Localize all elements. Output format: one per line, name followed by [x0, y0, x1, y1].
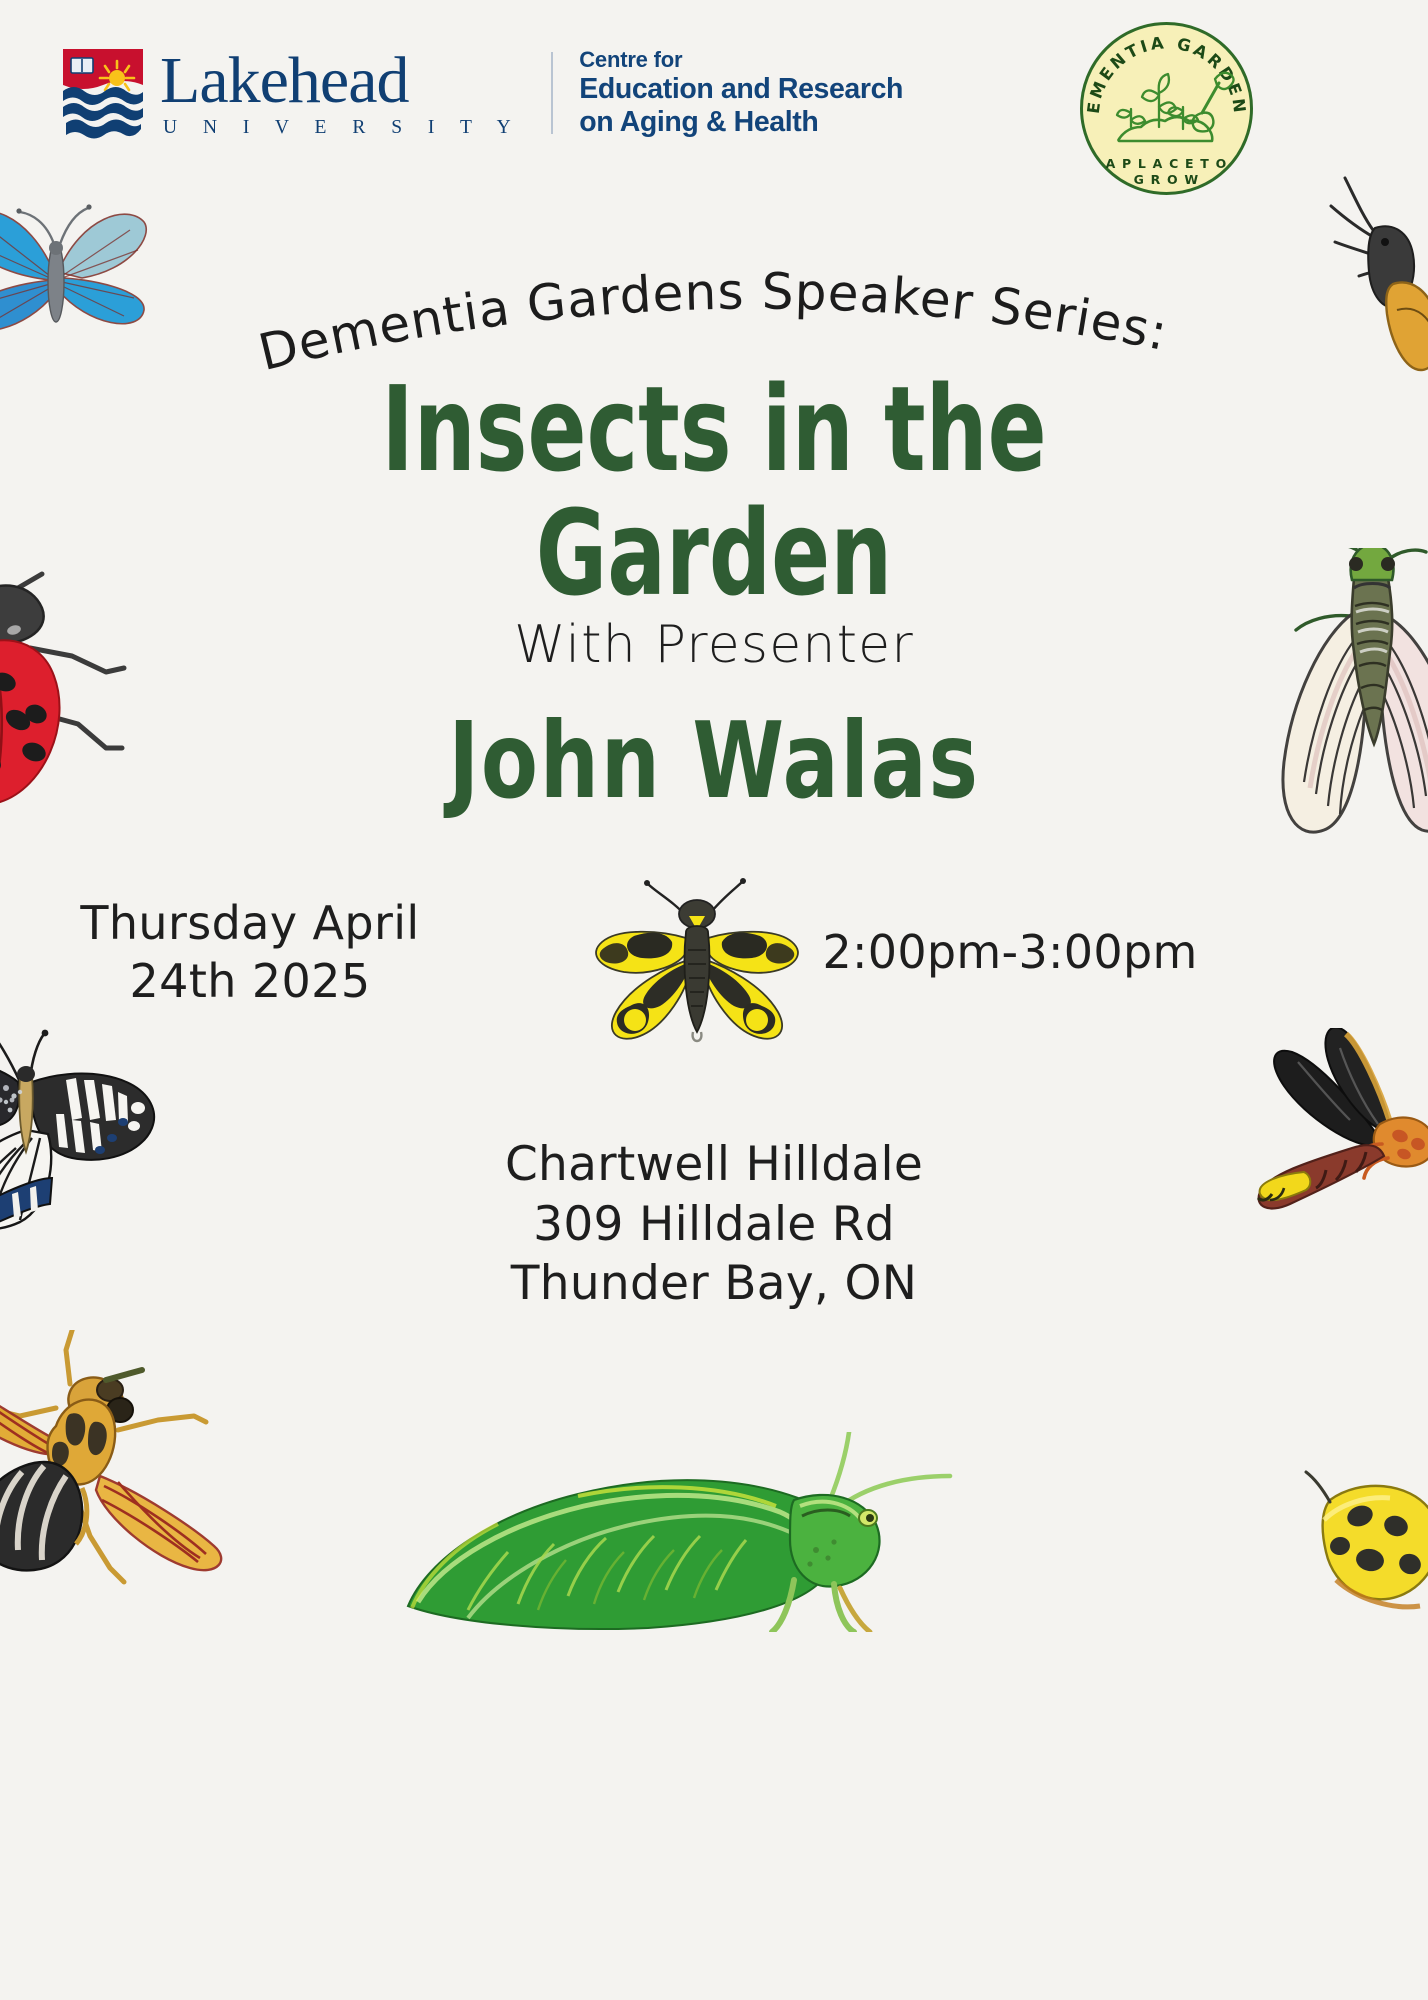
location-venue: Chartwell Hilldale — [0, 1135, 1428, 1195]
centre-line-3: on Aging & Health — [579, 106, 903, 139]
dragonfly-illustration — [1254, 1028, 1428, 1218]
lakehead-university-logo: Lakehead U N I V E R S I T Y Centre for … — [60, 45, 903, 141]
event-date-line-2: 24th 2025 — [40, 953, 460, 1011]
poster-canvas: Lakehead U N I V E R S I T Y Centre for … — [0, 0, 1428, 2000]
event-location: Chartwell Hilldale 309 Hilldale Rd Thund… — [0, 1135, 1428, 1314]
poster-header: Lakehead U N I V E R S I T Y Centre for … — [0, 0, 1428, 210]
swallowtail-butterfly-illustration — [0, 1026, 190, 1242]
presenter-intro: With Presenter — [0, 615, 1428, 675]
event-date: Thursday April 24th 2025 — [40, 895, 460, 1010]
university-name: Lakehead — [160, 48, 521, 114]
katydid-illustration — [398, 1432, 958, 1632]
centre-name-block: Centre for Education and Research on Agi… — [579, 47, 903, 139]
blue-butterfly-illustration — [0, 186, 158, 366]
lakehead-shield-icon — [60, 45, 146, 141]
presenter-name: John Walas — [86, 700, 1343, 822]
yellow-moth-bottom-illustration — [1300, 1460, 1428, 1640]
yellow-moth-illustration — [590, 872, 802, 1054]
longhorn-beetle-illustration — [1325, 172, 1428, 372]
university-subtitle: U N I V E R S I T Y — [163, 118, 521, 138]
dementia-gardens-badge: DEMENTIA GARDENS — [1079, 21, 1254, 196]
location-city: Thunder Bay, ON — [0, 1254, 1428, 1314]
page-title: Insects in the Garden — [129, 370, 1300, 612]
event-date-line-1: Thursday April — [40, 895, 460, 953]
cicada-illustration — [1270, 548, 1428, 848]
location-street: 309 Hilldale Rd — [0, 1195, 1428, 1255]
badge-tagline-line1: A P L A C E T O — [1106, 156, 1228, 171]
title-line-1: Insects in the — [129, 370, 1300, 494]
logo-divider — [551, 52, 553, 134]
title-line-2: Garden — [129, 494, 1300, 612]
lakehead-wordmark: Lakehead U N I V E R S I T Y — [160, 48, 521, 138]
centre-line-1: Centre for — [579, 47, 903, 73]
ladybug-illustration — [0, 552, 162, 820]
badge-tagline-line2: G R O W — [1134, 172, 1200, 187]
hoverfly-illustration — [0, 1330, 260, 1600]
centre-line-2: Education and Research — [579, 73, 903, 106]
